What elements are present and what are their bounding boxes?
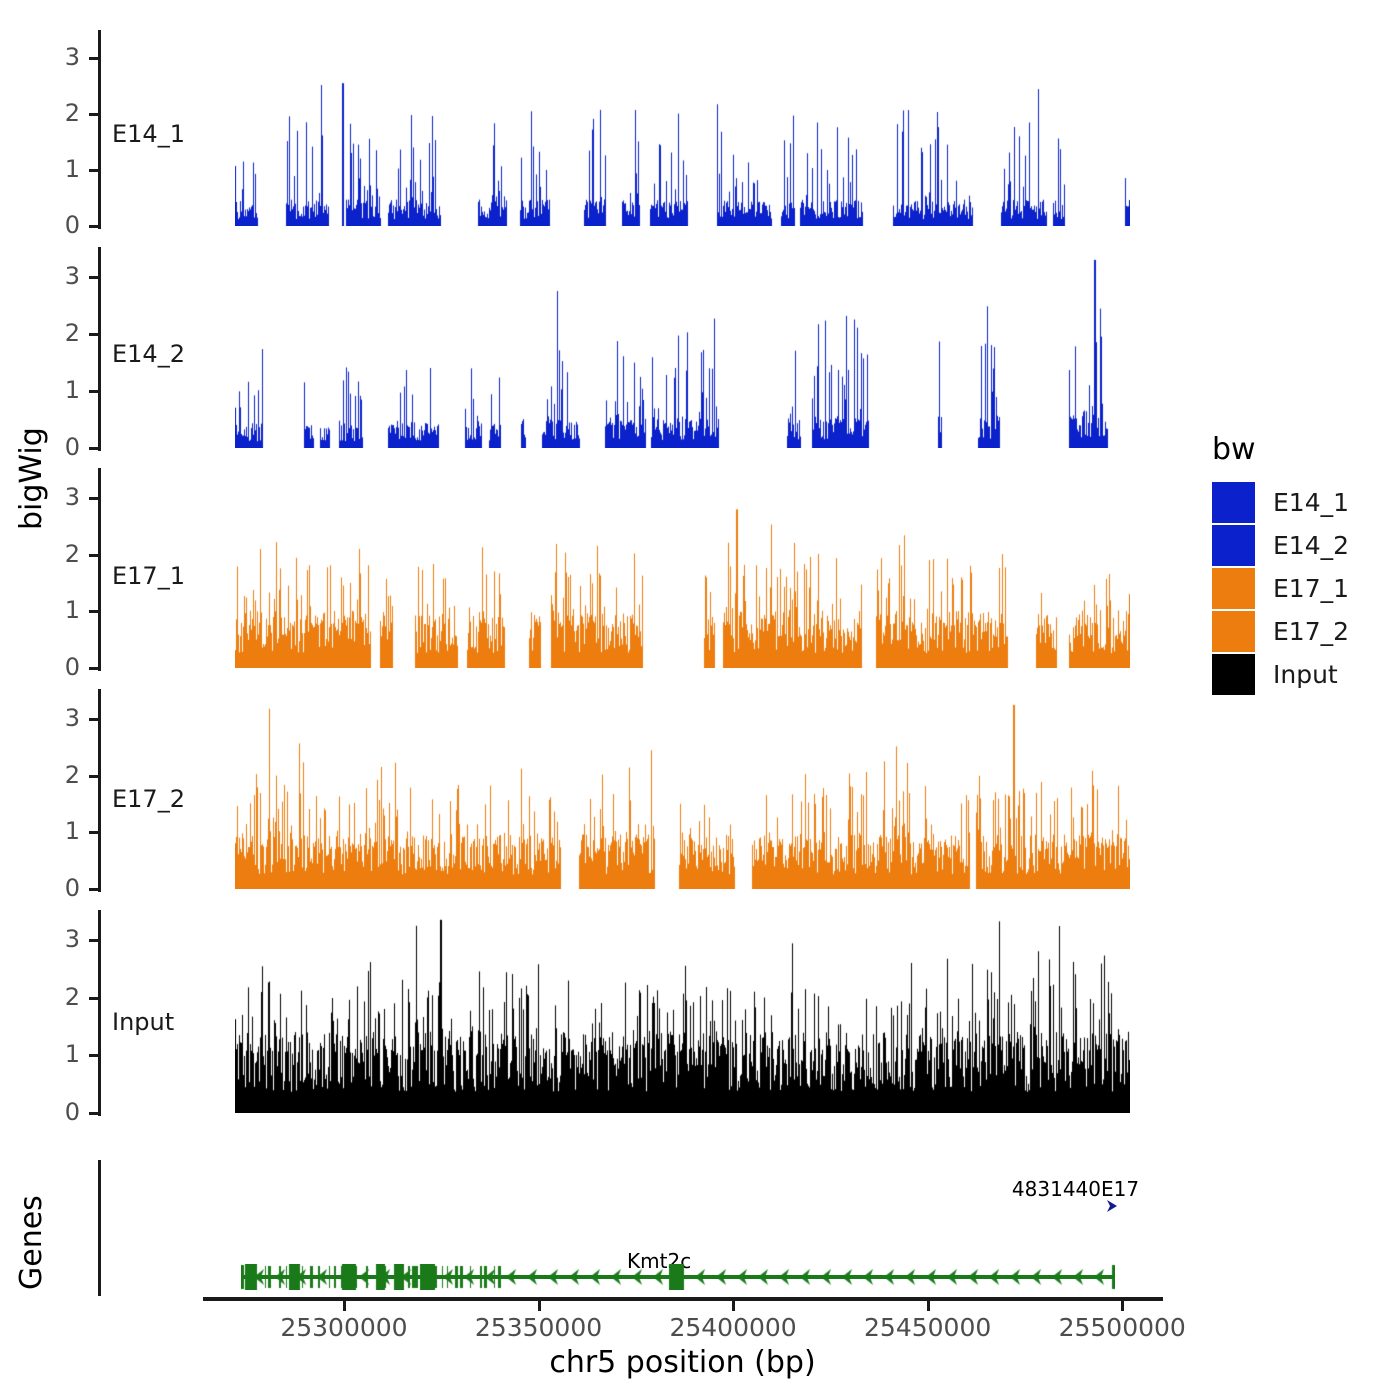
x-axis-title: chr5 position (bp) xyxy=(235,1345,1130,1380)
legend-item-e14_1[interactable]: E14_1 xyxy=(1212,481,1349,524)
x-axis-tick xyxy=(1121,1301,1124,1311)
y-axis-tick xyxy=(89,997,98,1000)
y-axis-tick xyxy=(89,831,98,834)
y-axis-tick xyxy=(89,169,98,172)
genes-axis-line xyxy=(98,1160,101,1296)
legend-color-swatch xyxy=(1212,654,1255,695)
y-axis-tick-label: 0 xyxy=(40,213,80,237)
track-label-e17_2: E17_2 xyxy=(112,785,185,813)
y-axis-line xyxy=(98,910,101,1116)
y-axis-tick-label: 3 xyxy=(40,485,80,509)
y-axis-tick-label: 3 xyxy=(40,706,80,730)
y-axis-tick-label: 0 xyxy=(40,1100,80,1124)
y-axis-tick xyxy=(89,888,98,891)
y-axis-tick xyxy=(89,610,98,613)
y-axis-tick-label: 3 xyxy=(40,264,80,288)
y-axis-tick-label: 1 xyxy=(40,819,80,843)
y-axis-title-genes: Genes xyxy=(14,1195,49,1290)
y-axis-tick-label: 2 xyxy=(40,321,80,345)
y-axis-tick xyxy=(89,1112,98,1115)
y-axis-tick xyxy=(89,939,98,942)
y-axis-tick xyxy=(89,276,98,279)
y-axis-tick-label: 1 xyxy=(40,598,80,622)
y-axis-tick-label: 3 xyxy=(40,927,80,951)
signal-track-input xyxy=(235,905,1130,1113)
legend-item-label: Input xyxy=(1273,660,1338,689)
legend-item-label: E17_1 xyxy=(1273,574,1349,603)
y-axis-tick xyxy=(89,113,98,116)
gene-exon-track xyxy=(241,1264,1115,1290)
y-axis-line xyxy=(98,468,101,671)
legend-color-swatch xyxy=(1212,611,1255,652)
y-axis-tick xyxy=(89,447,98,450)
signal-track-e17_2 xyxy=(235,685,1130,889)
y-axis-line xyxy=(98,247,101,451)
legend: bw E14_1E14_2E17_1E17_2Input xyxy=(1212,432,1349,696)
track-panel-e14_1: 0123 xyxy=(98,30,101,229)
legend-color-swatch xyxy=(1212,482,1255,523)
y-axis-line xyxy=(98,30,101,229)
signal-track-e14_2 xyxy=(235,243,1130,448)
track-label-input: Input xyxy=(112,1008,174,1036)
legend-item-e17_2[interactable]: E17_2 xyxy=(1212,610,1349,653)
y-axis-tick-label: 0 xyxy=(40,435,80,459)
legend-item-label: E14_2 xyxy=(1273,531,1349,560)
y-axis-tick-label: 0 xyxy=(40,655,80,679)
y-axis-tick-label: 1 xyxy=(40,378,80,402)
y-axis-tick xyxy=(89,775,98,778)
y-axis-tick xyxy=(89,57,98,60)
y-axis-tick-label: 2 xyxy=(40,542,80,566)
y-axis-tick-label: 2 xyxy=(40,763,80,787)
x-axis-tick xyxy=(927,1301,930,1311)
y-axis-tick xyxy=(89,667,98,670)
y-axis-tick xyxy=(89,1054,98,1057)
y-axis-tick xyxy=(89,225,98,228)
track-panel-e17_2: 0123 xyxy=(98,689,101,892)
signal-track-e14_1 xyxy=(235,24,1130,226)
x-axis-tick-label: 25300000 xyxy=(244,1313,444,1342)
x-axis-tick xyxy=(732,1301,735,1311)
x-axis-tick-label: 25350000 xyxy=(439,1313,639,1342)
x-axis-tick-label: 25500000 xyxy=(1022,1313,1222,1342)
x-axis-line xyxy=(203,1297,1163,1301)
track-panel-e14_2: 0123 xyxy=(98,247,101,451)
x-axis-tick xyxy=(538,1301,541,1311)
x-axis-tick-label: 25400000 xyxy=(633,1313,833,1342)
legend-item-e17_1[interactable]: E17_1 xyxy=(1212,567,1349,610)
track-label-e17_1: E17_1 xyxy=(112,562,185,590)
y-axis-tick xyxy=(89,554,98,557)
gene-strand-arrow-icon xyxy=(1105,1198,1121,1214)
legend-item-label: E14_1 xyxy=(1273,488,1349,517)
y-axis-tick xyxy=(89,390,98,393)
track-label-e14_2: E14_2 xyxy=(112,340,185,368)
y-axis-tick-label: 0 xyxy=(40,876,80,900)
legend-items: E14_1E14_2E17_1E17_2Input xyxy=(1212,481,1349,696)
legend-item-input[interactable]: Input xyxy=(1212,653,1349,696)
legend-item-label: E17_2 xyxy=(1273,617,1349,646)
y-axis-tick-label: 1 xyxy=(40,1042,80,1066)
y-axis-tick xyxy=(89,333,98,336)
y-axis-tick xyxy=(89,497,98,500)
x-axis-tick-label: 25450000 xyxy=(828,1313,1028,1342)
y-axis-tick-label: 2 xyxy=(40,985,80,1009)
x-axis-tick xyxy=(343,1301,346,1311)
y-axis-tick-label: 3 xyxy=(40,45,80,69)
plot-root: bigWig Genes chr5 position (bp) 0123E14_… xyxy=(0,0,1400,1400)
legend-title: bw xyxy=(1212,432,1349,467)
track-label-e14_1: E14_1 xyxy=(112,120,185,148)
track-panel-e17_1: 0123 xyxy=(98,468,101,671)
legend-color-swatch xyxy=(1212,525,1255,566)
y-axis-tick-label: 1 xyxy=(40,157,80,181)
y-axis-tick-label: 2 xyxy=(40,101,80,125)
legend-color-swatch xyxy=(1212,568,1255,609)
legend-item-e14_2[interactable]: E14_2 xyxy=(1212,524,1349,567)
signal-track-e17_1 xyxy=(235,464,1130,668)
y-axis-line xyxy=(98,689,101,892)
track-panel-input: 0123 xyxy=(98,910,101,1116)
y-axis-tick xyxy=(89,718,98,721)
